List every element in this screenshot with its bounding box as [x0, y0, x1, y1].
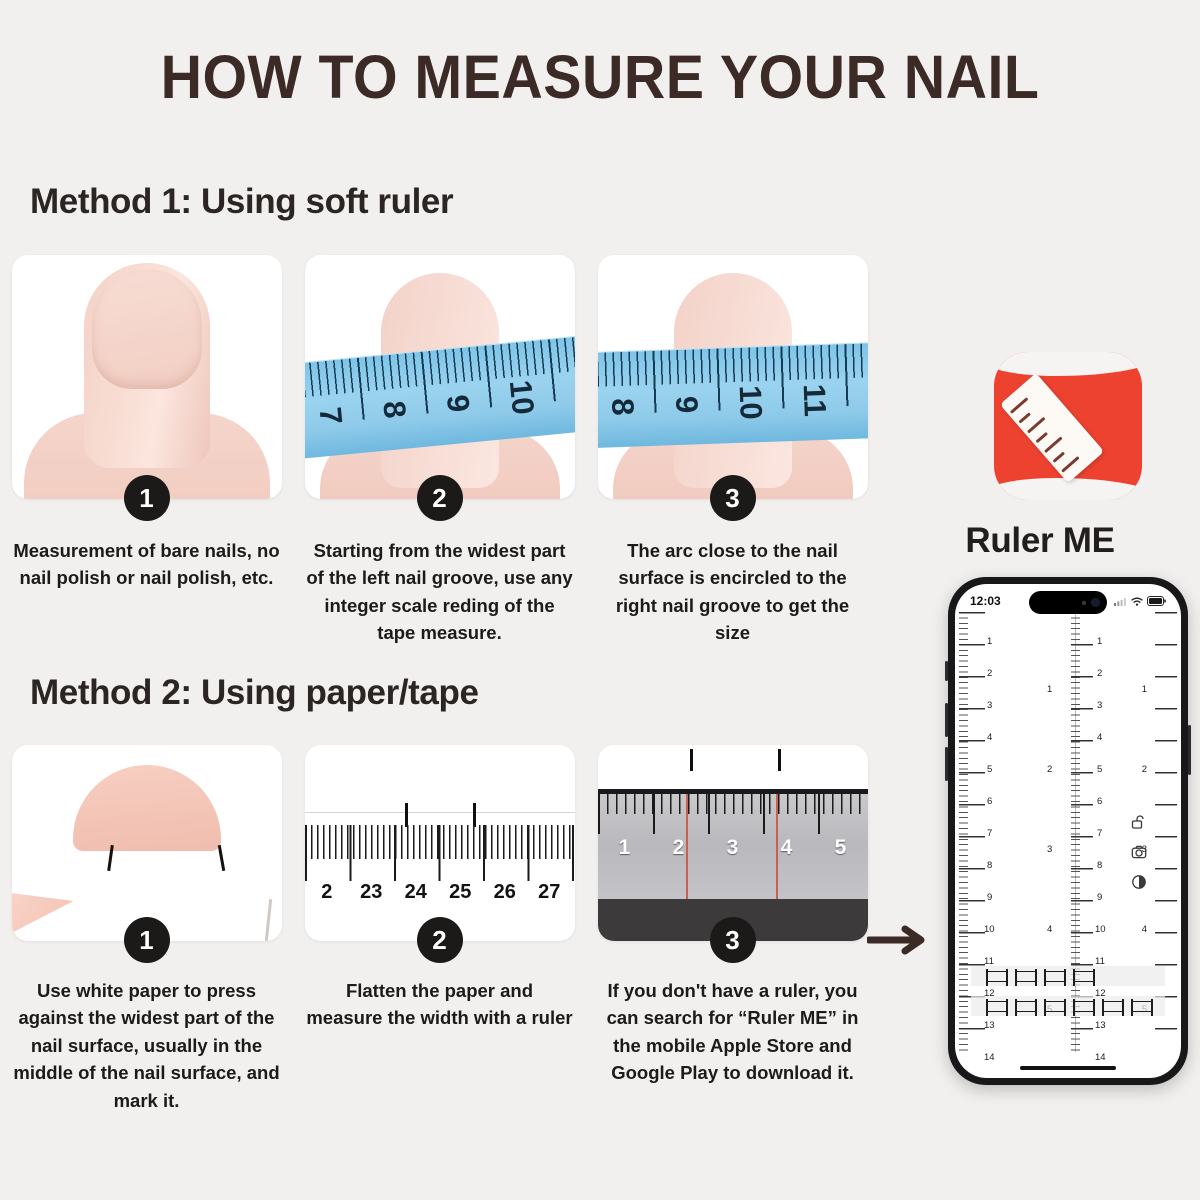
pen-mark-left	[690, 749, 693, 771]
ruler-major-ticks	[598, 794, 868, 834]
step-caption: The arc close to the nail surface is enc…	[599, 537, 867, 647]
mute-switch[interactable]	[945, 661, 948, 681]
ruler-number: 26	[483, 881, 528, 904]
method-2-heading: Method 2: Using paper/tape	[30, 673, 479, 713]
steel-ruler-body: 1 2 3 4 5	[598, 789, 868, 899]
dynamic-island	[1029, 591, 1107, 614]
step-number-badge: 3	[710, 917, 756, 963]
unlock-icon[interactable]	[1131, 814, 1147, 830]
measurement-widget-row[interactable]	[971, 996, 1165, 1016]
ruler-number: 6	[1097, 796, 1102, 807]
finger-corner-shape	[12, 893, 74, 933]
measurement-widget-row[interactable]	[971, 966, 1165, 986]
ruler-number: 7	[987, 828, 992, 839]
icon-wave-top	[994, 352, 1142, 376]
bare-fingernail-photo	[12, 255, 282, 499]
tool-icon-group	[1131, 814, 1147, 890]
tape-number: 9	[429, 369, 485, 437]
pen-mark-group	[598, 749, 868, 779]
finger-shape	[84, 263, 210, 468]
center-ruler-major-ticks	[1071, 612, 1093, 1052]
tape-number: 11	[788, 367, 840, 433]
camera-icon[interactable]	[1131, 844, 1147, 860]
step-card: 7 8 9 10 2 Starting from the widest part…	[293, 255, 586, 647]
ruler-number: 4	[760, 836, 814, 860]
ruler-number: 4	[1142, 924, 1147, 935]
step-caption: Use white paper to press against the wid…	[13, 977, 281, 1114]
ruler-number: 23	[349, 881, 394, 904]
ruler-number: 2	[305, 881, 350, 904]
nail-pressed-on-white-paper-photo	[12, 745, 282, 941]
left-ruler: 1 2 3 4 5 6 7 8 9 10 11 12 13 14	[959, 612, 1005, 1052]
measurement-chip[interactable]	[1045, 1001, 1065, 1012]
ruler-number: 8	[1097, 860, 1102, 871]
ruler-number: 1	[1097, 636, 1102, 647]
step-card: 1 Use white paper to press against the w…	[0, 745, 293, 1114]
status-bar-indicators	[1114, 596, 1166, 606]
ruler-me-app-icon[interactable]	[994, 352, 1142, 500]
ruler-number: 4	[987, 732, 992, 743]
steel-ruler-measuring-photo: 1 2 3 4 5	[598, 745, 868, 941]
measurement-chip[interactable]	[1103, 1001, 1123, 1012]
ruler-number-row: 1 2 3 4 5	[598, 836, 868, 860]
step-card: 1 2 3 4 5 3 If you don't have a ruler, y…	[586, 745, 879, 1114]
measurement-chip[interactable]	[987, 1001, 1007, 1012]
ruler-number: 13	[1095, 1020, 1106, 1031]
step-card: 1 Measurement of bare nails, no nail pol…	[0, 255, 293, 647]
finger-wrapped-tape-measure-photo: 8 9 10 11	[598, 255, 868, 499]
contrast-icon[interactable]	[1131, 874, 1147, 890]
status-bar-clock: 12:03	[970, 594, 1001, 608]
app-promo-column: Ruler ME 12:03	[880, 0, 1200, 1200]
method-1-steps-row: 1 Measurement of bare nails, no nail pol…	[0, 255, 880, 647]
tape-number: 7	[305, 382, 358, 450]
paper-strip-on-ruler-photo: 2 23 24 25 26 27	[305, 745, 575, 941]
finger-with-blue-tape-measure-photo: 7 8 9 10	[305, 255, 575, 499]
pen-mark-right	[217, 845, 224, 871]
sensor-dot	[1082, 601, 1086, 605]
ruler-number-row: 2 23 24 25 26 27	[305, 881, 575, 904]
paper-strip	[305, 745, 575, 813]
ruler-number: 3	[987, 700, 992, 711]
step-number-badge: 2	[417, 475, 463, 521]
right-ruler-major-ticks	[1155, 612, 1177, 1052]
wifi-icon	[1131, 597, 1143, 606]
ruler-number: 9	[1097, 892, 1102, 903]
ruler-number: 2	[1097, 668, 1102, 679]
tape-number: 9	[660, 372, 712, 438]
ruler-number: 1	[1047, 684, 1052, 695]
ruler-number: 10	[1095, 924, 1106, 935]
step-card: 2 23 24 25 26 27 2 Flatten the paper and…	[293, 745, 586, 1114]
ruler-number: 25	[438, 881, 483, 904]
ruler-number: 1	[1142, 684, 1147, 695]
ruler-number: 4	[1047, 924, 1052, 935]
ruler-number: 13	[984, 1020, 995, 1031]
ruler-number: 1	[987, 636, 992, 647]
step-caption: If you don't have a ruler, you can searc…	[599, 977, 867, 1087]
step-number-badge: 2	[417, 917, 463, 963]
method-1-heading: Method 1: Using soft ruler	[30, 182, 453, 222]
ruler-measuring-surface[interactable]: 1 2 3 4 5 6 7 8 9 10 11 12 13 14	[955, 584, 1181, 1078]
signal-bars-icon	[1114, 597, 1127, 606]
ruler-number: 3	[1047, 844, 1052, 855]
front-camera-lens	[1091, 598, 1100, 607]
step-caption: Starting from the widest part of the lef…	[306, 537, 574, 647]
home-indicator	[1020, 1066, 1116, 1070]
volume-up-button[interactable]	[945, 703, 948, 737]
photo-wrapper: 2 23 24 25 26 27 2	[305, 745, 575, 941]
ruler-number: 2	[987, 668, 992, 679]
ruler-number: 27	[527, 881, 572, 904]
ruler-number: 8	[987, 860, 992, 871]
measurement-chip[interactable]	[1074, 1001, 1094, 1012]
phone-screen[interactable]: 12:03	[955, 584, 1181, 1078]
measurement-chip[interactable]	[1074, 971, 1094, 982]
ruler-number: 9	[987, 892, 992, 903]
photo-wrapper: 8 9 10 11 3	[598, 255, 868, 499]
ruler-number: 5	[814, 836, 868, 860]
photo-wrapper: 7 8 9 10 2	[305, 255, 575, 499]
center-ruler[interactable]: 1 2 3 4 5 6 7 8 9 10 11 12 13 14 1 2	[1063, 612, 1115, 1052]
measurement-chip[interactable]	[1016, 1001, 1036, 1012]
ruler-number: 7	[1097, 828, 1102, 839]
ruler-number: 24	[394, 881, 439, 904]
power-button[interactable]	[1188, 725, 1191, 775]
step-number-badge: 1	[124, 917, 170, 963]
photo-wrapper: 1 2 3 4 5 3	[598, 745, 868, 941]
nail-impression-shape	[73, 765, 221, 851]
tape-number-row: 8 9 10 11	[598, 373, 868, 433]
step-card: 8 9 10 11 3 The arc close to the nail su…	[586, 255, 879, 647]
photo-wrapper: 1	[12, 745, 282, 941]
ruler-number: 5	[987, 764, 992, 775]
step-number-badge: 3	[710, 475, 756, 521]
ruler-number: 2	[652, 836, 706, 860]
measurement-chip[interactable]	[1016, 971, 1036, 982]
ruler-number: 14	[984, 1052, 995, 1063]
measurement-chip[interactable]	[987, 971, 1007, 982]
paper-edge	[264, 899, 271, 941]
battery-icon	[1147, 596, 1166, 606]
tape-number: 8	[366, 375, 422, 443]
pen-mark-right	[778, 749, 781, 771]
ruler-glyph-icon	[1000, 373, 1104, 483]
ruler-number: 6	[987, 796, 992, 807]
ruler-number: 10	[984, 924, 995, 935]
ruler-number: 4	[1097, 732, 1102, 743]
blue-tape-measure: 8 9 10 11	[598, 342, 868, 448]
tape-number: 8	[598, 374, 648, 440]
left-ruler-major-ticks	[959, 612, 985, 1052]
ruler-number: 3	[706, 836, 760, 860]
phone-mockup: 12:03	[948, 577, 1188, 1085]
tape-number: 10	[724, 370, 776, 436]
ruler-number: 3	[1097, 700, 1102, 711]
photo-wrapper: 1	[12, 255, 282, 499]
measurement-chip[interactable]	[1045, 971, 1065, 982]
pen-mark-left	[405, 803, 408, 827]
app-name-label: Ruler ME	[880, 521, 1200, 561]
ruler-major-ticks	[305, 825, 575, 881]
step-caption: Flatten the paper and measure the width …	[306, 977, 574, 1032]
step-caption: Measurement of bare nails, no nail polis…	[13, 537, 281, 592]
volume-down-button[interactable]	[945, 747, 948, 781]
pen-mark-right	[473, 803, 476, 827]
ruler-number: 2	[1047, 764, 1052, 775]
ruler-number: 2	[1142, 764, 1147, 775]
ruler-number: 14	[1095, 1052, 1106, 1063]
method-2-steps-row: 1 Use white paper to press against the w…	[0, 745, 880, 1114]
measurement-chip[interactable]	[1132, 1001, 1152, 1012]
tape-number: 10	[493, 363, 549, 431]
ruler-number: 1	[598, 836, 652, 860]
ruler-number: 5	[1097, 764, 1102, 775]
step-number-badge: 1	[124, 475, 170, 521]
